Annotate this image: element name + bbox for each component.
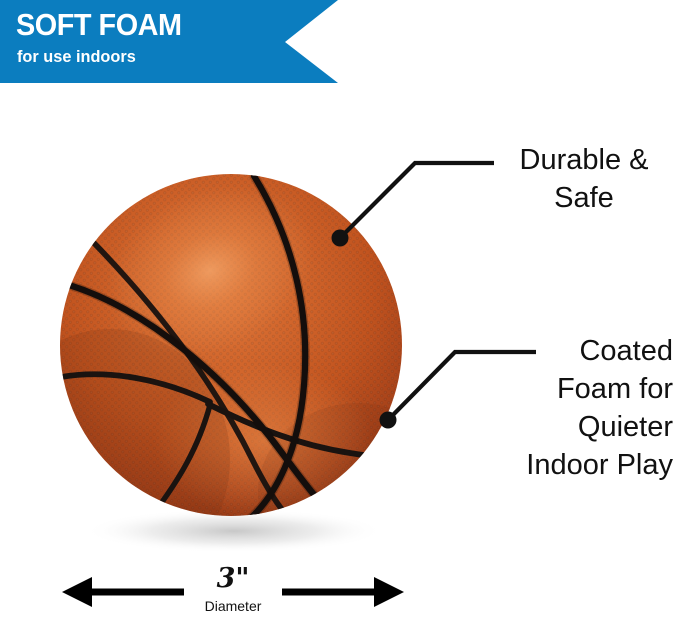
infographic-canvas: SOFT FOAM for use indoors — [0, 0, 679, 625]
callout-durable-safe: Durable & Safe — [496, 141, 672, 217]
callout-coated-foam-line1: Coated — [470, 332, 673, 370]
callout-coated-foam-line2: Foam for — [470, 370, 673, 408]
diameter-value: 3" — [183, 564, 283, 594]
leader-dot-durable-safe — [332, 230, 349, 247]
leader-line-durable-safe — [332, 163, 495, 247]
diameter-label: Diameter — [183, 598, 283, 614]
callout-coated-foam: Coated Foam for Quieter Indoor Play — [470, 332, 673, 484]
callout-durable-safe-line2: Safe — [496, 179, 672, 217]
callout-durable-safe-line1: Durable & — [496, 141, 672, 179]
callout-coated-foam-line3: Quieter — [470, 408, 673, 446]
callout-coated-foam-line4: Indoor Play — [470, 446, 673, 484]
leader-dot-coated-foam — [380, 412, 397, 429]
